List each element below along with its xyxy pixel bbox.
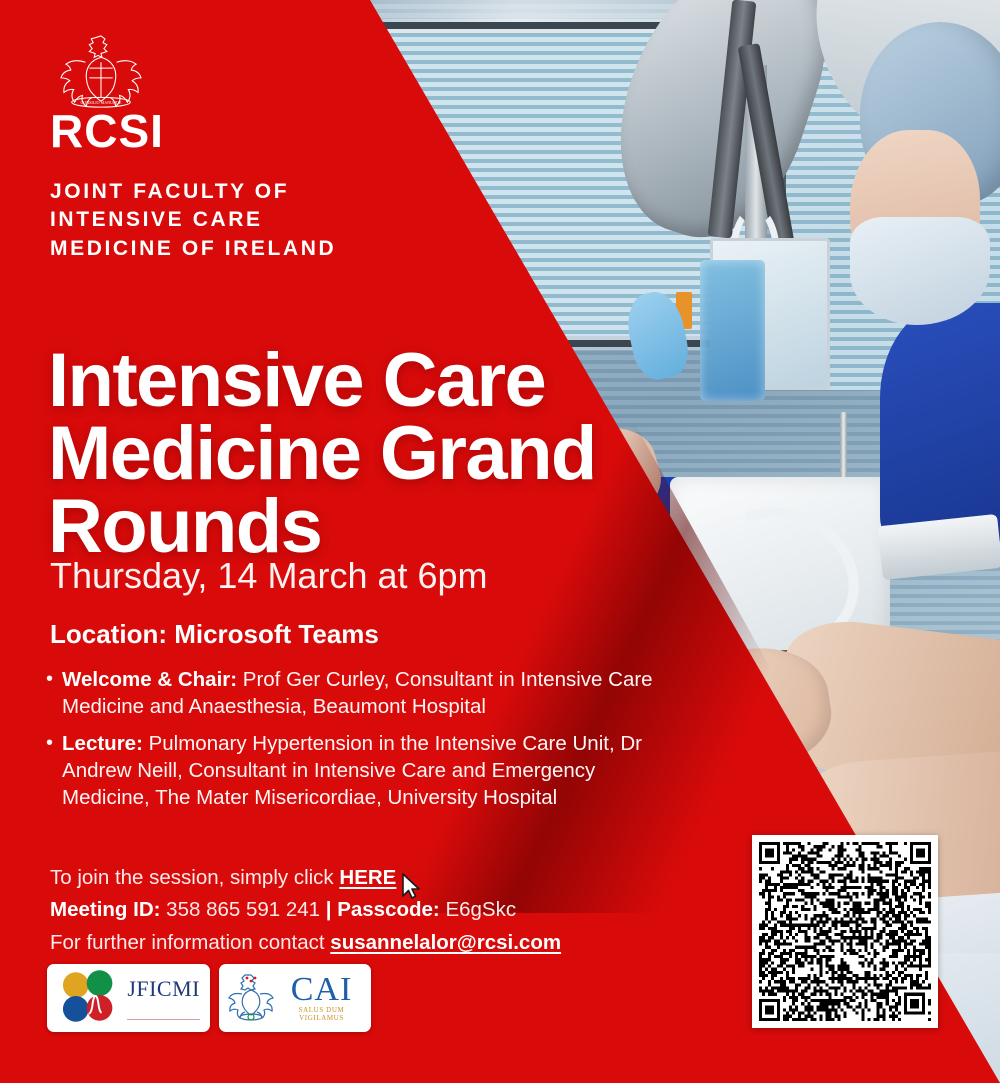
jficmi-wordmark: JFICMI [127,976,200,1002]
join-here-link[interactable]: HERE [339,866,396,889]
meeting-id-value: 358 865 591 241 [160,898,325,921]
qr-code-icon[interactable] [752,835,938,1028]
rcsi-coat-of-arms-icon: CONSILIO MANUQUE [52,33,150,111]
cai-wordmark: CAI [291,974,353,1006]
programme-text: Lecture: Pulmonary Hypertension in the I… [62,730,686,811]
title-line-3: Rounds [48,491,596,564]
faculty-line-2: INTENSIVE CARE [50,206,336,234]
join-details: To join the session, simply click HERE M… [50,862,670,959]
title-line-2: Medicine Grand [48,418,596,491]
programme-text: Welcome & Chair: Prof Ger Curley, Consul… [62,666,686,720]
programme-label: Welcome & Chair: [62,668,237,691]
programme-label: Lecture: [62,732,143,755]
contact-email-link[interactable]: susannelalor@rcsi.com [330,931,561,954]
mouse-pointer-click-icon [392,866,426,900]
bullet-icon: • [46,730,53,811]
meeting-id-label: Meeting ID: [50,898,160,921]
passcode-value: E6gSkc [440,898,516,921]
faculty-line-3: MEDICINE OF IRELAND [50,235,336,263]
contact-line: For further information contact susannel… [50,927,670,959]
cai-motto: SALUS DUM VIGILAMUS [281,1006,362,1022]
cai-crest-logo-icon [228,972,274,1024]
contact-prefix: For further information contact [50,931,330,954]
programme-detail: Pulmonary Hypertension in the Intensive … [62,732,642,809]
event-datetime: Thursday, 14 March at 6pm [50,556,488,596]
meeting-credentials-line: Meeting ID: 358 865 591 241 | Passcode: … [50,894,670,926]
rcsi-wordmark: RCSI [50,108,164,154]
cai-logo-box: CAI SALUS DUM VIGILAMUS [219,964,371,1032]
faculty-name: JOINT FACULTY OF INTENSIVE CARE MEDICINE… [50,178,336,263]
jficmi-logo-box: JFICMI [47,964,210,1032]
list-item: • Welcome & Chair: Prof Ger Curley, Cons… [46,666,686,720]
poster-canvas: CONSILIO MANUQUE RCSI JOINT FACULTY OF I… [0,0,1000,1083]
passcode-label: Passcode: [332,898,440,921]
jficmi-circles-logo-icon [57,969,118,1027]
faculty-line-1: JOINT FACULTY OF [50,178,336,206]
bullet-icon: • [46,666,53,720]
list-item: • Lecture: Pulmonary Hypertension in the… [46,730,686,811]
programme-list: • Welcome & Chair: Prof Ger Curley, Cons… [46,666,686,821]
title-line-1: Intensive Care [48,345,596,418]
join-link-line: To join the session, simply click HERE [50,862,670,894]
event-location: Location: Microsoft Teams [50,620,379,649]
partner-logos: JFICMI CAI [47,964,371,1032]
join-prefix: To join the session, simply click [50,866,339,889]
page-title: Intensive Care Medicine Grand Rounds [48,345,596,564]
